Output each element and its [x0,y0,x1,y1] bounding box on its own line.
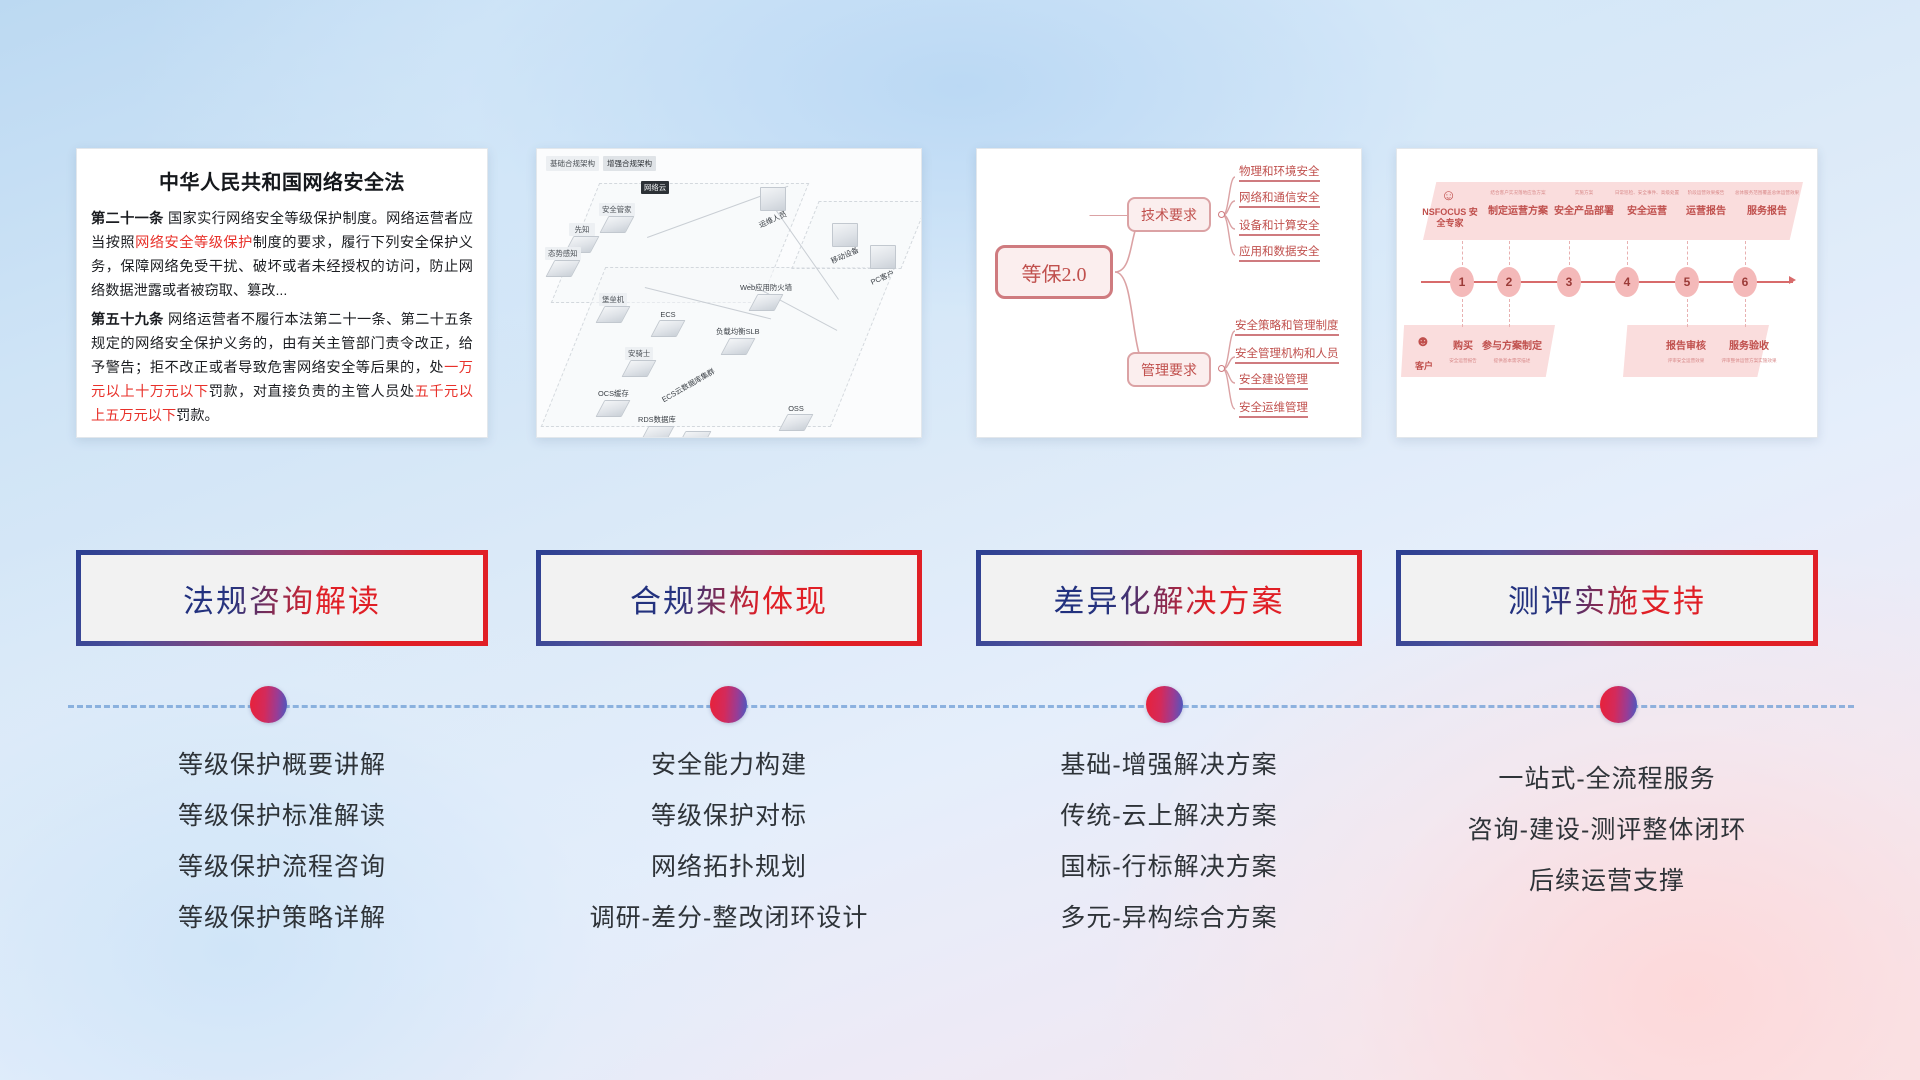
section-list-1: 等级保护概要讲解 等级保护标准解读 等级保护流程咨询 等级保护策略详解 [76,740,488,944]
timeline-dot-2[interactable] [710,686,747,723]
mindmap-leaf: 应用和数据安全 [1239,243,1320,262]
section-list-4: 一站式-全流程服务 咨询-建设-测评整体闭环 后续运营支撑 [1396,740,1818,907]
list-item: 咨询-建设-测评整体闭环 [1396,805,1818,856]
mindmap-canvas: 等保2.0 技术要求 物理和环境安全 网络和通信安全 设备和计算安全 应用和数据… [977,149,1361,437]
mindmap-leaf: 安全运维管理 [1239,399,1308,418]
process-expert-role: NSFOCUS 安全专家 [1419,207,1481,229]
tab-enhanced-architecture[interactable]: 增强合规架构 [603,156,656,171]
mindmap-collapse-dot[interactable] [1218,211,1225,218]
mindmap-leaf: 物理和环境安全 [1239,163,1320,182]
law-run: 罚款，对直接负责的主管人员处 [209,384,415,400]
architecture-tabs: 基础合规架构 增强合规架构 [546,156,656,171]
node-load-balancer-slb: 负载均衡SLB [713,323,763,355]
node-operations-staff: 运维人员 [755,187,791,226]
law-body: 第二十一条 国家实行网络安全等级保护制度。网络运营者应当按照网络安全等级保护制度… [77,195,487,428]
process-marker: 1 [1450,267,1474,297]
architecture-canvas: 基础合规架构 增强合规架构 网络云 安全管家 先知 态势感知 [537,149,921,437]
list-item: 一站式-全流程服务 [1396,754,1818,805]
process-marker: 6 [1733,267,1757,297]
process-axis-arrow-icon [1789,276,1796,284]
section-title-box-4[interactable]: 测评实施支持 [1396,550,1818,646]
preview-cards-row: 中华人民共和国网络安全法 第二十一条 国家实行网络安全等级保护制度。网络运营者应… [0,148,1920,448]
node-bastion-host: 堡垒机 [599,291,627,323]
process-bottom-step: 购买 安全运营报告 [1439,337,1487,364]
process-marker: 2 [1497,267,1521,297]
list-item: 安全能力构建 [536,740,922,791]
list-item: 网络拓扑规划 [536,842,922,893]
node-pc-client: PC客户 [867,245,898,284]
node-situational-awareness: 态势感知 [545,245,581,277]
section-list-3: 基础-增强解决方案 传统-云上解决方案 国标-行标解决方案 多元-异构综合方案 [976,740,1362,944]
node-anqishi: 安骑士 [625,345,653,377]
law-run: 罚款。 [176,408,219,424]
section-title-label: 测评实施支持 [1508,576,1706,621]
mindmap-collapse-dot[interactable] [1218,365,1225,372]
law-article-label: 第五十九条 [91,312,164,328]
mindmap-leaf: 设备和计算安全 [1239,217,1320,236]
node-ocs-cache: OCS缓存 [595,385,632,417]
section-title-label: 合规架构体现 [630,576,828,621]
customer-avatar-icon: ☻ [1415,333,1431,350]
tab-basic-architecture[interactable]: 基础合规架构 [546,156,599,171]
process-canvas: ☺ NSFOCUS 安全专家 结合客户实况落地应急方案 制定运营方案 实施方案 … [1397,149,1817,437]
mindmap-branch-management: 管理要求 [1127,352,1211,387]
node-database-audit: 数据库审计 [673,431,716,438]
process-marker: 3 [1557,267,1581,297]
law-article-label: 第二十一条 [91,211,164,227]
mindmap-leaf: 安全管理机构和人员 [1235,345,1339,364]
process-top-step: 结合客户实况落地应急方案 制定运营方案 [1481,189,1555,217]
timeline-dot-1[interactable] [250,686,287,723]
node-security-butler: 安全管家 [599,201,635,233]
process-bottom-step: 服务验收 评审整体运营方案实施效果 [1715,337,1783,364]
node-vpc: VPC [759,437,780,438]
section-title-label: 差异化解决方案 [1054,576,1285,621]
timeline [0,686,1920,726]
card-process-timeline[interactable]: ☺ NSFOCUS 安全专家 结合客户实况落地应急方案 制定运营方案 实施方案 … [1396,148,1818,438]
section-lists-row: 等级保护概要讲解 等级保护标准解读 等级保护流程咨询 等级保护策略详解 安全能力… [0,740,1920,970]
law-title: 中华人民共和国网络安全法 [77,166,487,195]
node-mobile-device: 移动设备 [827,223,863,262]
section-title-label: 法规咨询解读 [183,576,381,621]
section-title-box-2[interactable]: 合规架构体现 [536,550,922,646]
law-run-highlight: 网络安全等级保护 [135,235,253,251]
law-paragraph: 第二十一条 国家实行网络安全等级保护制度。网络运营者应当按照网络安全等级保护制度… [91,207,473,303]
list-item: 等级保护对标 [536,791,922,842]
card-mindmap[interactable]: 等保2.0 技术要求 物理和环境安全 网络和通信安全 设备和计算安全 应用和数据… [976,148,1362,438]
mindmap-leaf: 网络和通信安全 [1239,189,1320,208]
list-item: 等级保护策略详解 [76,893,488,944]
law-paragraph: 第五十九条 网络运营者不履行本法第二十一条、第二十五条规定的网络安全保护义务的，… [91,308,473,428]
list-item: 基础-增强解决方案 [976,740,1362,791]
timeline-dot-3[interactable] [1146,686,1183,723]
node-oss: OSS [783,401,809,431]
list-item: 多元-异构综合方案 [976,893,1362,944]
node-ecs: ECS [655,307,681,337]
timeline-dot-4[interactable] [1600,686,1637,723]
process-marker: 4 [1615,267,1639,297]
list-item: 国标-行标解决方案 [976,842,1362,893]
list-item: 等级保护标准解读 [76,791,488,842]
card-law-text[interactable]: 中华人民共和国网络安全法 第二十一条 国家实行网络安全等级保护制度。网络运营者应… [76,148,488,438]
mindmap-leaf: 安全策略和管理制度 [1235,317,1339,336]
expert-avatar-icon: ☺ [1441,187,1456,204]
section-titles-row: 法规咨询解读 合规架构体现 差异化解决方案 测评实施支持 [0,550,1920,646]
section-list-2: 安全能力构建 等级保护对标 网络拓扑规划 调研-差分-整改闭环设计 [536,740,922,944]
list-item: 传统-云上解决方案 [976,791,1362,842]
process-marker: 5 [1675,267,1699,297]
timeline-dashed-line [68,705,1854,708]
list-item: 后续运营支撑 [1396,856,1818,907]
card-architecture-diagram[interactable]: 基础合规架构 增强合规架构 网络云 安全管家 先知 态势感知 [536,148,922,438]
process-bottom-step: 报告审核 评审安全运营效果 [1655,337,1717,364]
list-item: 等级保护流程咨询 [76,842,488,893]
list-item: 调研-差分-整改闭环设计 [536,893,922,944]
section-title-box-1[interactable]: 法规咨询解读 [76,550,488,646]
section-title-box-3[interactable]: 差异化解决方案 [976,550,1362,646]
mindmap-branch-technical: 技术要求 [1127,197,1211,232]
process-bottom-step: 参与方案制定 提供基本需求描述 [1481,337,1543,364]
node-web-application-firewall: Web应用防火墙 [737,279,795,311]
mindmap-leaf: 安全建设管理 [1239,371,1308,390]
process-top-step: 总体服务范围覆盖总体运营效果 服务报告 [1727,189,1807,217]
list-item: 等级保护概要讲解 [76,740,488,791]
node-cloud-network: 网络云 [641,179,669,194]
